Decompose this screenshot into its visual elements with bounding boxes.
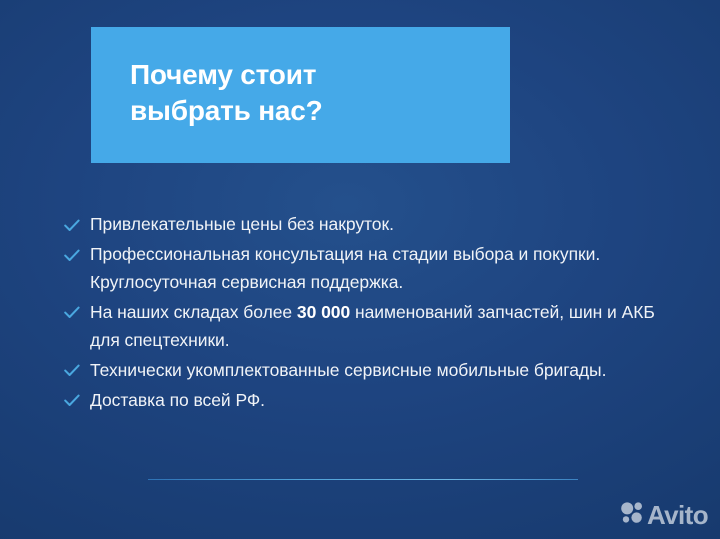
check-icon bbox=[64, 298, 84, 327]
list-item-text: Привлекательные цены без накруток. bbox=[90, 214, 394, 234]
avito-dots-icon bbox=[620, 500, 644, 529]
check-icon bbox=[64, 240, 84, 269]
list-item-text: Профессиональная консультация на стадии … bbox=[90, 244, 600, 292]
list-item: Технически укомплектованные сервисные мо… bbox=[64, 356, 676, 385]
list-item-label: Привлекательные цены без накруток. bbox=[90, 210, 676, 238]
list-item-text: Доставка по всей РФ. bbox=[90, 390, 265, 410]
avito-wordmark: Avito bbox=[647, 502, 708, 528]
list-item-label: На наших складах более 30 000 наименован… bbox=[90, 298, 676, 355]
list-item-label: Профессиональная консультация на стадии … bbox=[90, 240, 676, 297]
title-panel: Почему стоит выбрать нас? bbox=[91, 27, 510, 163]
page-title: Почему стоит выбрать нас? bbox=[130, 57, 490, 129]
check-icon bbox=[64, 386, 84, 415]
divider bbox=[148, 479, 578, 480]
list-item-text: Технически укомплектованные сервисные мо… bbox=[90, 360, 606, 380]
avito-watermark: Avito bbox=[620, 500, 708, 529]
benefits-list: Привлекательные цены без накруток. Профе… bbox=[64, 210, 676, 416]
list-item-label: Технически укомплектованные сервисные мо… bbox=[90, 356, 676, 384]
list-item-label: Доставка по всей РФ. bbox=[90, 386, 676, 414]
check-icon bbox=[64, 210, 84, 239]
list-item-highlight: 30 000 bbox=[297, 302, 350, 322]
slide-canvas: Почему стоит выбрать нас? Привлекательны… bbox=[0, 0, 720, 539]
list-item: Профессиональная консультация на стадии … bbox=[64, 240, 676, 297]
list-item: Привлекательные цены без накруток. bbox=[64, 210, 676, 239]
list-item-text: На наших складах более bbox=[90, 302, 297, 322]
list-item: Доставка по всей РФ. bbox=[64, 386, 676, 415]
list-item: На наших складах более 30 000 наименован… bbox=[64, 298, 676, 355]
check-icon bbox=[64, 356, 84, 385]
